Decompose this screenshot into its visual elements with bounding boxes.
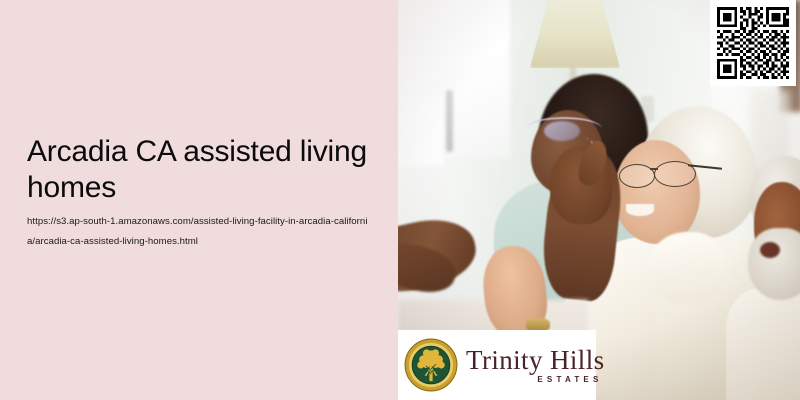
qr-code[interactable] [710,0,796,86]
qr-code-icon [717,7,789,79]
link-preview-card: Arcadia CA assisted living homes https:/… [0,0,800,400]
brand-logo-text: Trinity Hills ESTATES [466,347,605,384]
page-url[interactable]: https://s3.ap-south-1.amazonaws.com/assi… [27,212,372,252]
brand-logo[interactable]: Trinity Hills ESTATES [398,330,596,400]
text-panel: Arcadia CA assisted living homes https:/… [0,0,398,400]
brand-name: Trinity Hills [466,347,605,374]
brand-subtitle: ESTATES [537,376,602,384]
page-title: Arcadia CA assisted living homes [27,134,367,206]
tree-in-circle-icon [404,338,458,392]
